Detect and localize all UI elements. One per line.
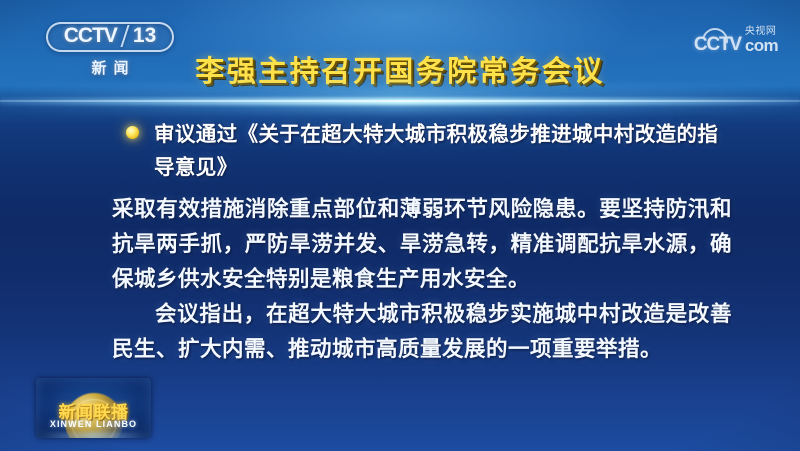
bullet-item: 审议通过《关于在超大特大城市积极稳步推进城中村改造的指导意见》 [126, 118, 722, 184]
cctv-channel-number: 13 [133, 25, 156, 47]
body-paragraph: 采取有效措施消除重点部位和薄弱环节风险隐患。要坚持防汛和抗旱两手抓，严防旱涝并发… [112, 192, 732, 297]
program-bug-sheen [42, 432, 145, 438]
program-bug-name-en: XINWEN LIANBO [36, 419, 151, 429]
body-paragraph: 会议指出，在超大特大城市积极稳步实施城中村改造是改善民生、扩大内需、推动城市高质… [112, 297, 732, 367]
gold-dot-icon [126, 126, 139, 139]
cctv-wordmark: CCTV [64, 25, 117, 47]
headline-title: 李强主持召开国务院常务会议 [0, 48, 800, 90]
body-text-block: 采取有效措施消除重点部位和薄弱环节风险隐患。要坚持防汛和抗旱两手抓，严防旱涝并发… [112, 192, 732, 367]
bullet-item-text: 审议通过《关于在超大特大城市积极稳步推进城中村改造的指导意见》 [154, 118, 722, 184]
broadcast-screen: CCTV 13 新闻 CCTV 央视网 com 李强主持召开国务院常务会议 审议… [0, 0, 800, 451]
divider-line [0, 100, 800, 102]
cctv-slash-icon [120, 25, 129, 47]
program-bug-xinwen-lianbo: 新闻联播 XINWEN LIANBO [36, 378, 151, 438]
